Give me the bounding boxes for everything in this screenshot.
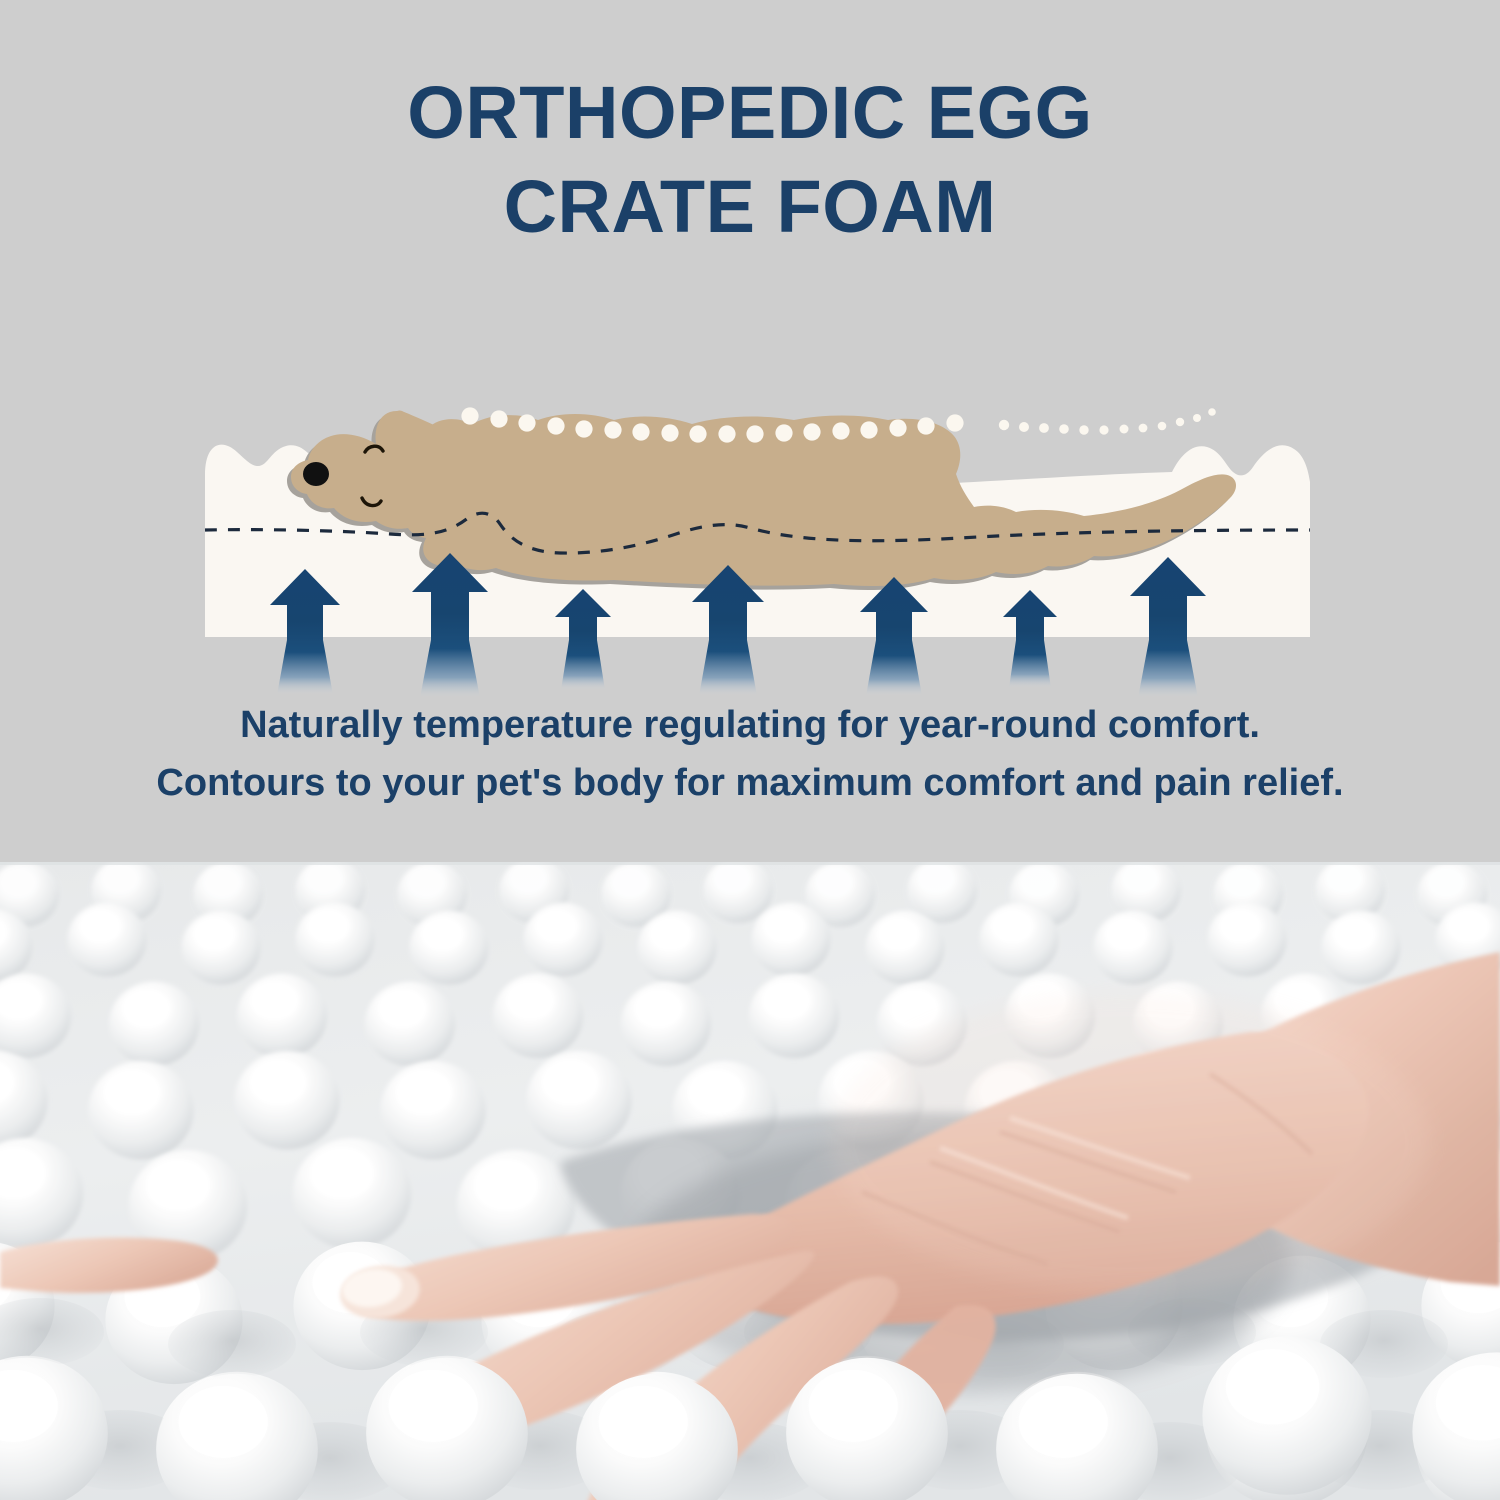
dog-nose bbox=[303, 462, 329, 486]
top-infographic-panel: ORTHOPEDIC EGG CRATE FOAM bbox=[0, 0, 1500, 862]
tail-dots bbox=[999, 408, 1216, 435]
page-title: ORTHOPEDIC EGG CRATE FOAM bbox=[0, 66, 1500, 254]
caption-line-2: Contours to your pet's body for maximum … bbox=[0, 754, 1500, 812]
caption-block: Naturally temperature regulating for yea… bbox=[0, 696, 1500, 812]
caption-line-1: Naturally temperature regulating for yea… bbox=[0, 696, 1500, 754]
egg-crate-foam-photo bbox=[0, 862, 1500, 1500]
product-infographic: ORTHOPEDIC EGG CRATE FOAM bbox=[0, 0, 1500, 1500]
dog-on-foam-diagram bbox=[0, 300, 1500, 700]
foam-front-face-overlay bbox=[205, 637, 1310, 640]
foam-photo-panel bbox=[0, 862, 1500, 1500]
